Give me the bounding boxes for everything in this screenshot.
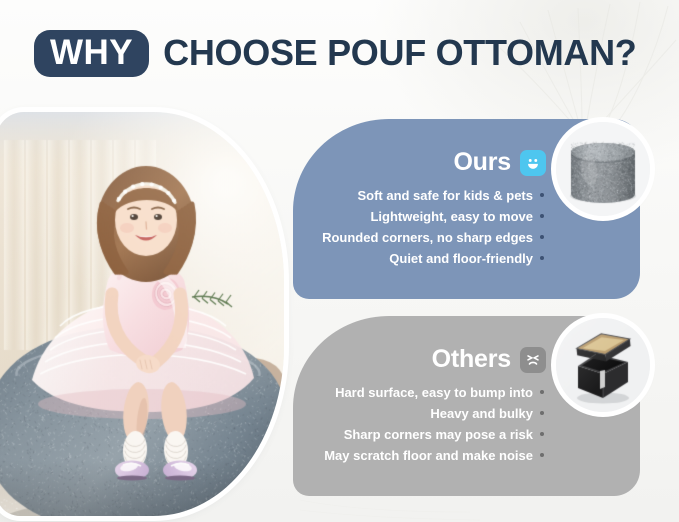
list-item: Sharp corners may pose a risk — [293, 424, 544, 445]
list-item-label: Lightweight, easy to move — [370, 210, 533, 223]
panel-others-list: Hard surface, easy to bump into Heavy an… — [293, 382, 544, 466]
list-item: Rounded corners, no sharp edges — [293, 227, 544, 248]
bullet-dot-icon — [540, 214, 544, 218]
smiling-face-icon — [520, 150, 546, 176]
panel-others-heading: Others — [293, 347, 546, 373]
bullet-dot-icon — [540, 235, 544, 239]
why-badge: WHY — [34, 30, 149, 77]
bullet-dot-icon — [540, 193, 544, 197]
confounded-face-icon — [520, 347, 546, 373]
bullet-dot-icon — [540, 453, 544, 457]
page-title: CHOOSE POUF OTTOMAN? — [163, 35, 636, 71]
black-storage-box-canvas — [556, 318, 650, 412]
list-item-label: Heavy and bulky — [430, 407, 533, 420]
panel-ours-title: Ours — [453, 150, 511, 175]
list-item: Lightweight, easy to move — [293, 206, 544, 227]
list-item: Hard surface, easy to bump into — [293, 382, 544, 403]
black-storage-box-ottoman-thumbnail — [556, 318, 650, 412]
list-item: Soft and safe for kids & pets — [293, 185, 544, 206]
bullet-dot-icon — [540, 411, 544, 415]
panel-ours-heading: Ours — [293, 150, 546, 176]
list-item-label: Rounded corners, no sharp edges — [322, 231, 533, 244]
list-item-label: Quiet and floor-friendly — [389, 252, 533, 265]
list-item-label: Sharp corners may pose a risk — [344, 428, 533, 441]
gray-round-pouf-canvas — [556, 122, 650, 216]
list-item-label: Soft and safe for kids & pets — [357, 189, 533, 202]
panel-ours-list: Soft and safe for kids & pets Lightweigh… — [293, 185, 544, 269]
list-item: Heavy and bulky — [293, 403, 544, 424]
list-item: Quiet and floor-friendly — [293, 248, 544, 269]
bullet-dot-icon — [540, 432, 544, 436]
list-item: May scratch floor and make noise — [293, 445, 544, 466]
gray-round-pouf-thumbnail — [556, 122, 650, 216]
lifestyle-photo-canvas — [0, 112, 284, 516]
panel-others-title: Others — [432, 347, 511, 372]
lifestyle-photo — [0, 112, 284, 516]
bullet-dot-icon — [540, 256, 544, 260]
bullet-dot-icon — [540, 390, 544, 394]
list-item-label: Hard surface, easy to bump into — [335, 386, 533, 399]
page-header: WHY CHOOSE POUF OTTOMAN? — [34, 22, 637, 84]
list-item-label: May scratch floor and make noise — [324, 449, 533, 462]
